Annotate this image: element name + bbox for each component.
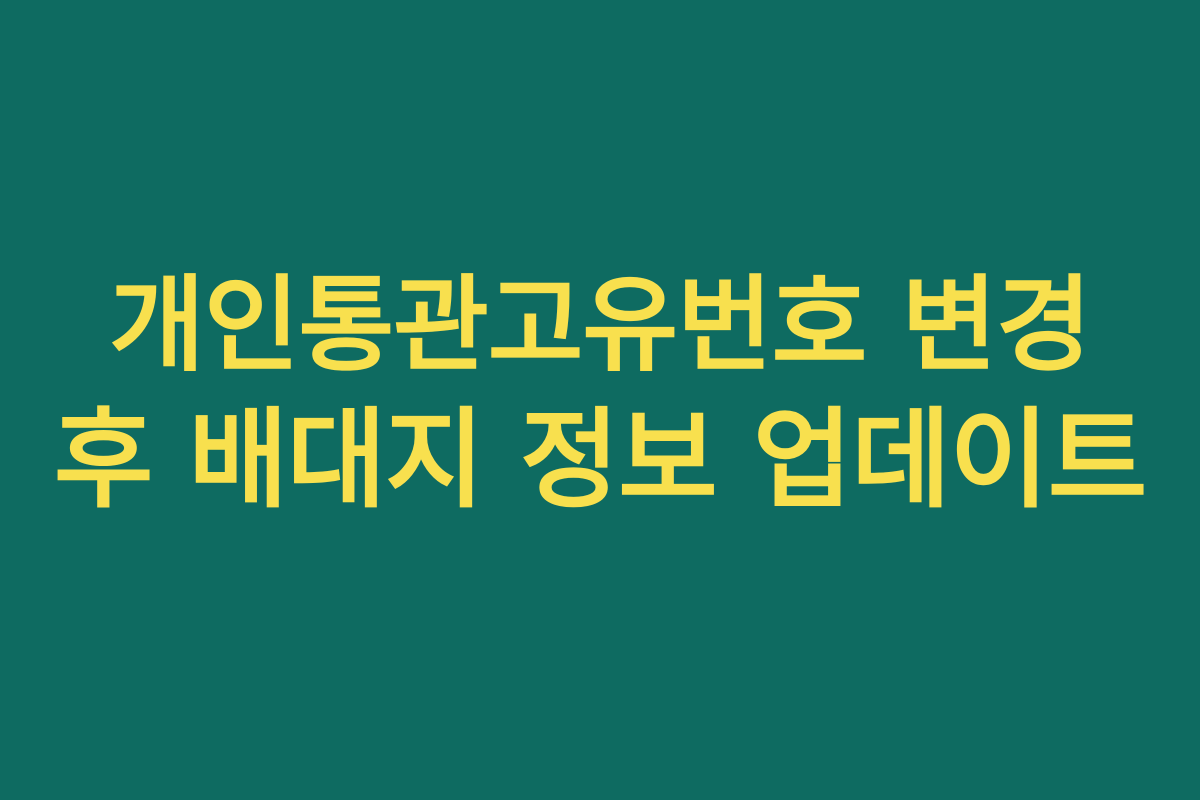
title-line-2: 후 배대지 정보 업데이트 [54, 392, 1146, 530]
title-block: 개인통관고유번호 변경 후 배대지 정보 업데이트 [40, 259, 1160, 530]
title-line-1: 개인통관고유번호 변경 [109, 259, 1091, 392]
title-card: 개인통관고유번호 변경 후 배대지 정보 업데이트 [0, 0, 1200, 800]
